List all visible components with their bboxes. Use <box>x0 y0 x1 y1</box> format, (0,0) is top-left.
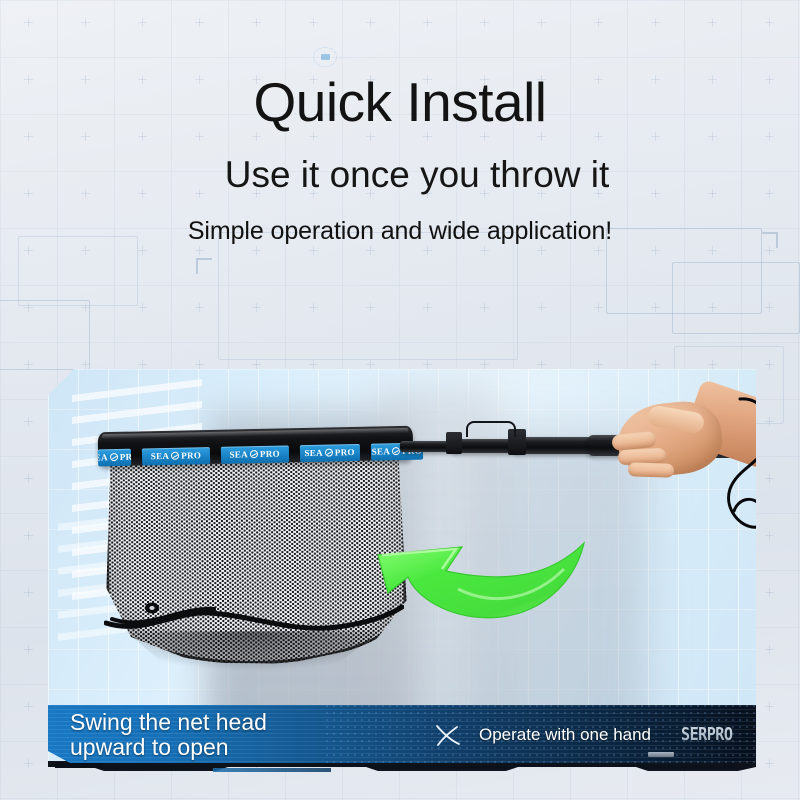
green-curved-arrow-icon <box>366 529 591 659</box>
badge-text-left: SEA <box>229 449 248 459</box>
banner-footer-accent <box>213 768 331 772</box>
page-tagline: Simple operation and wide application! <box>0 217 800 246</box>
banner-tab-marker <box>648 752 674 757</box>
badge-logo-icon <box>392 447 400 455</box>
caption-instruction-text: Swing the net head upward to open <box>70 710 267 760</box>
badge-logo-icon <box>110 453 118 461</box>
badge-text-right: PRO <box>260 449 280 459</box>
corner-bracket-left <box>196 258 212 274</box>
sea-pro-badge: SEAPRO <box>142 447 210 465</box>
badge-text-left: SEA <box>372 446 391 456</box>
sea-pro-badge: SEAPRO <box>221 445 289 463</box>
badge-logo-icon <box>325 448 333 456</box>
sea-pro-badge: SEAPRO <box>98 448 131 466</box>
banner-footer-accent <box>55 763 103 768</box>
serpro-brand-logo: SERPRO <box>681 725 732 745</box>
headings-block: Quick Install Use it once you throw it S… <box>0 0 800 246</box>
caption-feature-group: Operate with one hand SERPRO <box>433 722 729 748</box>
badge-text-right: PRO <box>335 447 355 457</box>
wrist-lanyard-cord <box>668 393 756 553</box>
sea-pro-badge: SEAPRO <box>299 443 359 461</box>
badge-logo-icon <box>250 450 258 458</box>
page-subtitle: Use it once you throw it <box>0 154 800 195</box>
pole-locking-clip <box>446 432 462 454</box>
badge-text-left: SEA <box>151 451 170 461</box>
badge-logo-icon <box>171 452 179 460</box>
badge-text-left: SEA <box>98 452 108 462</box>
pole-wire-hook <box>466 421 516 437</box>
caption-feature-text: Operate with one hand <box>479 725 651 745</box>
x-stroke-icon <box>433 722 463 748</box>
promo-canvas: Quick Install Use it once you throw it S… <box>0 0 800 800</box>
page-title: Quick Install <box>0 0 800 130</box>
badge-text-left: SEA <box>304 448 323 458</box>
pole-segment <box>514 437 594 454</box>
badge-text-right: PRO <box>181 450 201 460</box>
badge-text-right: PRO <box>120 452 132 462</box>
